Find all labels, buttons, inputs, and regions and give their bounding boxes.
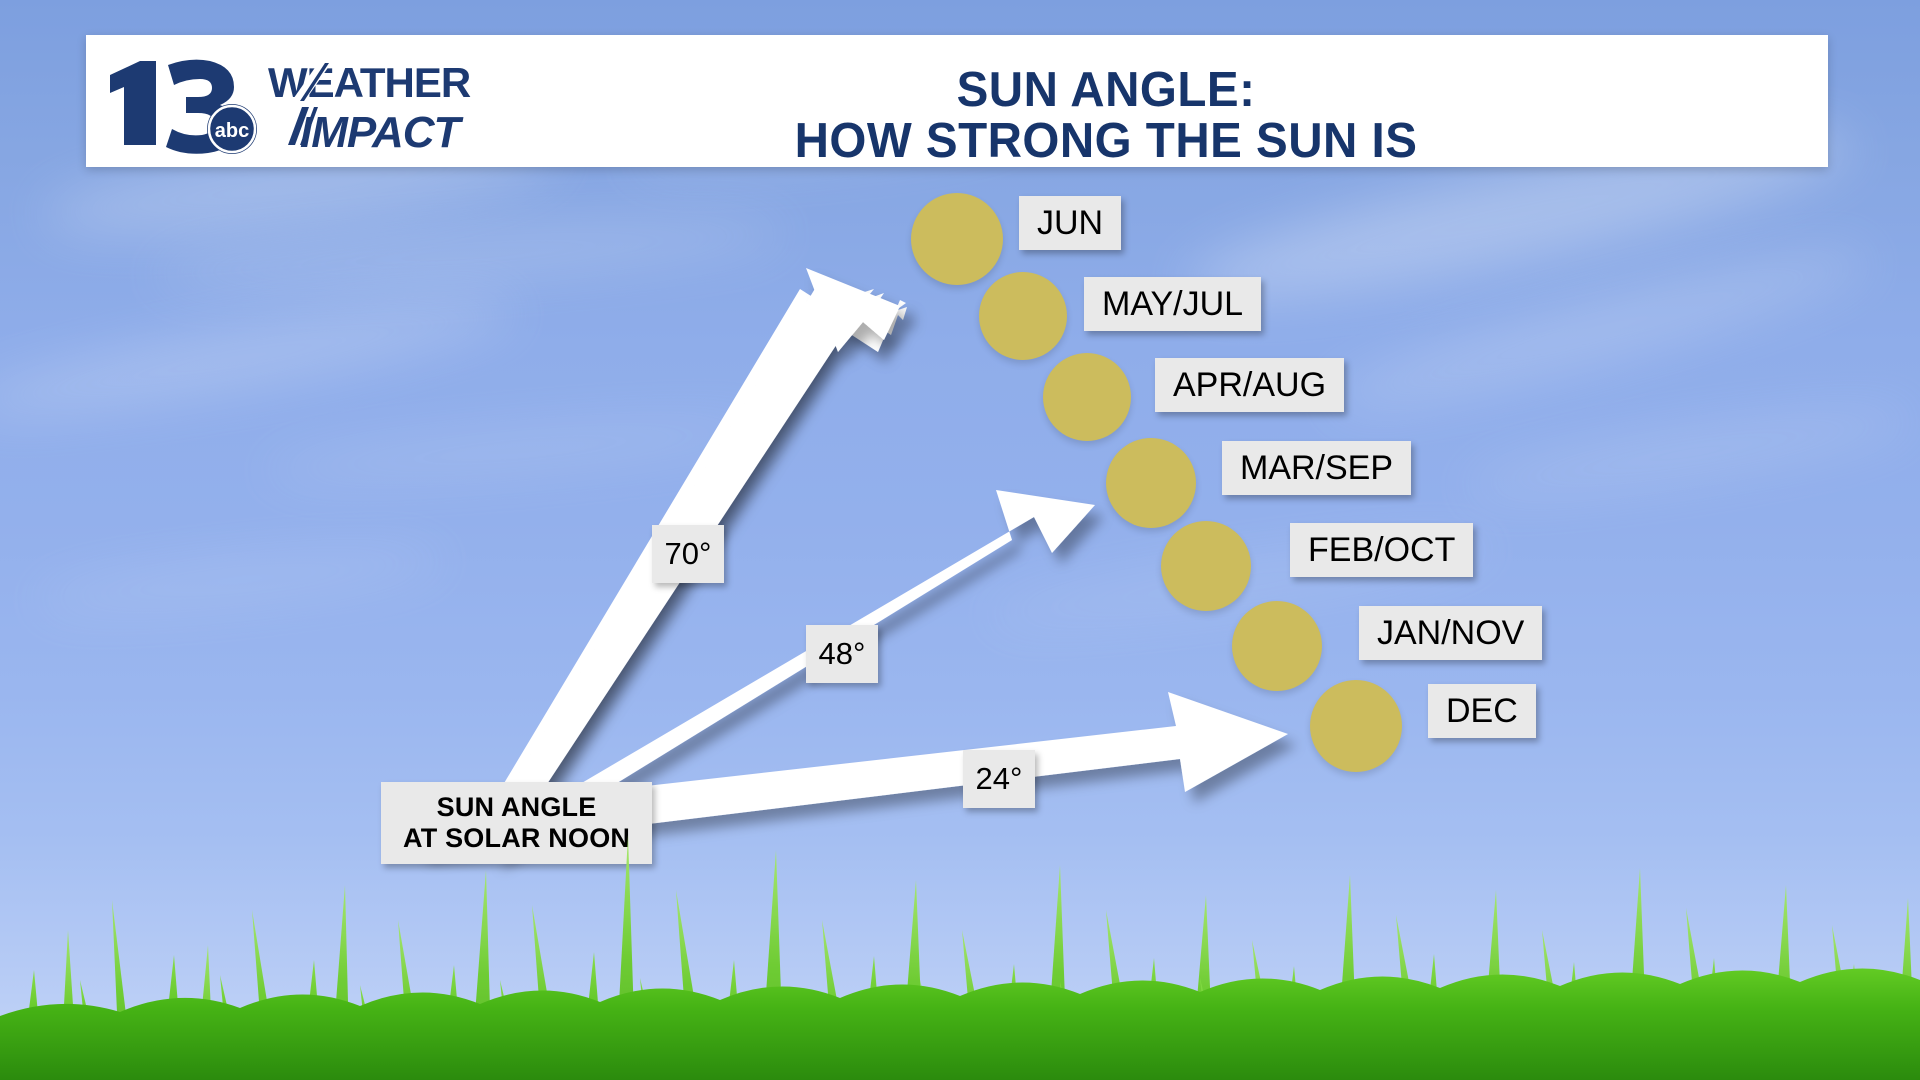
month-label-apraug-text: APR/AUG xyxy=(1173,366,1326,405)
grass-foreground xyxy=(0,780,1920,1080)
month-label-marsep-text: MAR/SEP xyxy=(1240,449,1393,488)
month-label-feboct-text: FEB/OCT xyxy=(1308,531,1455,570)
month-label-dec-text: DEC xyxy=(1446,692,1518,731)
weather-graphic-stage: 70° 48° 24° JUN MAY/JUL APR/AUG MAR/SEP … xyxy=(0,0,1920,1080)
page-title-line2: HOW STRONG THE SUN IS xyxy=(621,116,1591,167)
month-label-apraug: APR/AUG xyxy=(1155,358,1344,412)
month-label-mayjul: MAY/JUL xyxy=(1084,277,1261,331)
angle-label-70-text: 70° xyxy=(665,536,712,572)
month-label-marsep: MAR/SEP xyxy=(1222,441,1411,495)
month-label-jun-text: JUN xyxy=(1037,204,1103,243)
page-title-line1: SUN ANGLE: xyxy=(957,63,1256,117)
month-label-jannov-text: JAN/NOV xyxy=(1377,614,1524,653)
logo-impact-text: IMPACT xyxy=(300,108,464,155)
header-bar: abc WEATHER IMPACT xyxy=(86,35,1828,167)
abc-roundel-text: abc xyxy=(215,120,249,142)
month-label-feboct: FEB/OCT xyxy=(1290,523,1473,577)
angle-label-48: 48° xyxy=(806,625,878,683)
page-title: SUN ANGLE: HOW STRONG THE SUN IS xyxy=(621,65,1591,167)
angle-label-48-text: 48° xyxy=(819,636,866,672)
abc-roundel: abc xyxy=(207,104,257,154)
station-logo: abc WEATHER IMPACT xyxy=(106,49,506,155)
month-label-jun: JUN xyxy=(1019,196,1121,250)
angle-label-70: 70° xyxy=(652,525,724,583)
month-label-jannov: JAN/NOV xyxy=(1359,606,1542,660)
month-label-mayjul-text: MAY/JUL xyxy=(1102,285,1243,324)
month-label-dec: DEC xyxy=(1428,684,1536,738)
